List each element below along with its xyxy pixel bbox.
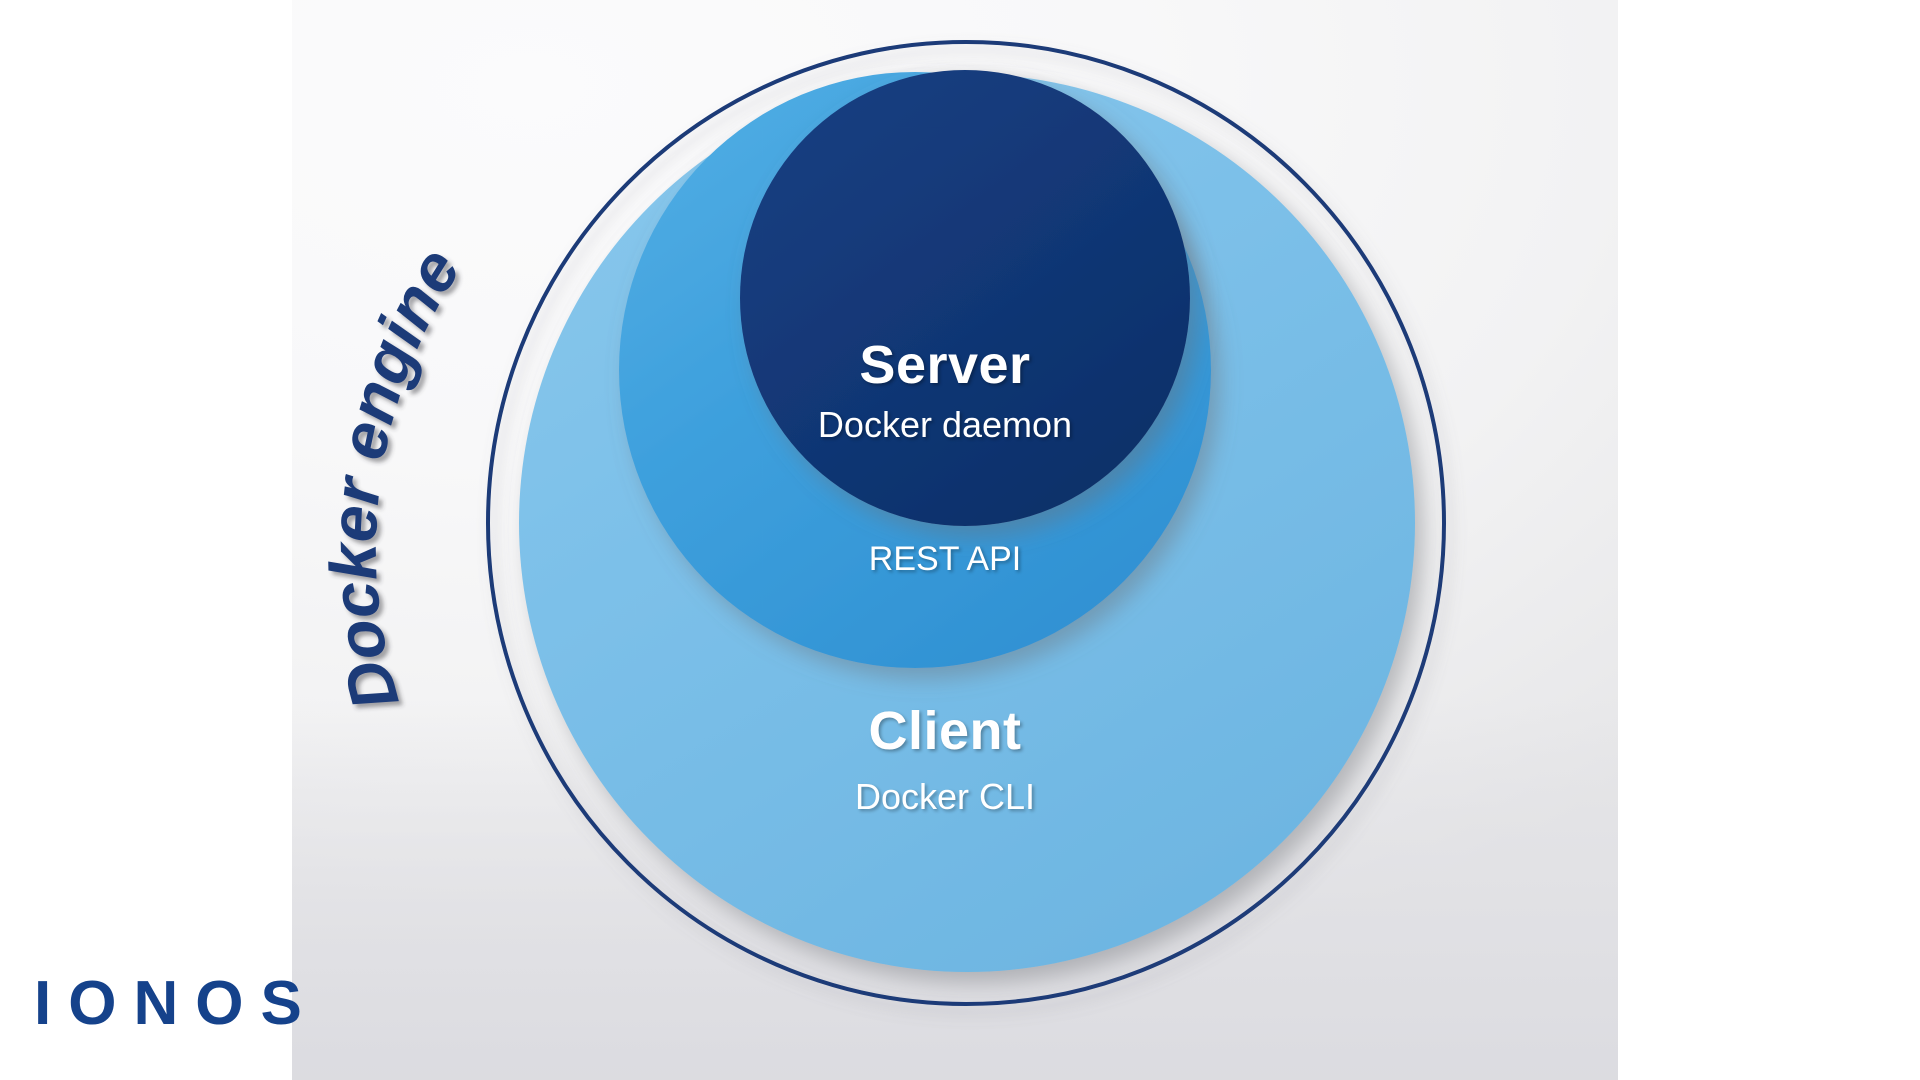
slide-canvas: Docker engine Server Docker daemon REST …: [0, 0, 1920, 1080]
rest-api-label: REST API: [0, 540, 1905, 579]
server-title-label: Server: [0, 334, 1905, 396]
client-subtitle-label: Docker CLI: [0, 776, 1905, 818]
server-circle[interactable]: [740, 70, 1190, 526]
server-subtitle-label: Docker daemon: [0, 404, 1905, 446]
docker-engine-arc-label: Docker engine: [316, 235, 474, 718]
client-title-label: Client: [0, 700, 1905, 762]
ionos-logo: IONOS: [34, 968, 319, 1039]
